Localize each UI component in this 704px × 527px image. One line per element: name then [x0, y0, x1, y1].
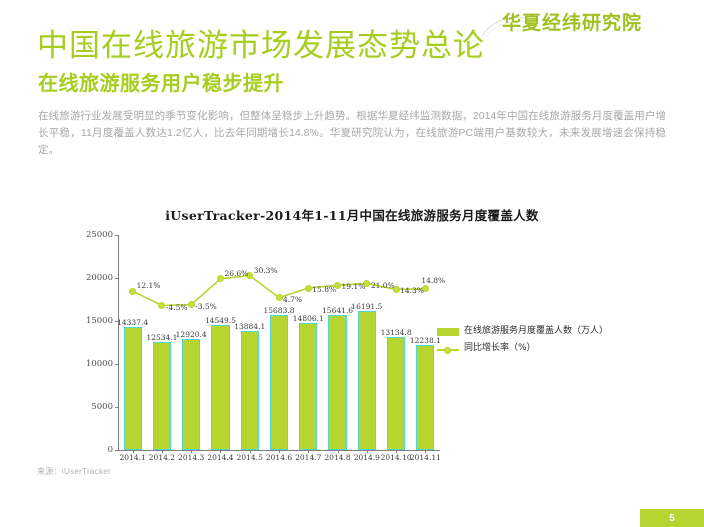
x-tick-label: 2014.7 — [295, 453, 321, 462]
bar-slot[interactable] — [124, 235, 142, 450]
chart-plot-area: 0500010000150002000025000 12.1%-4.5%-3.5… — [118, 235, 440, 450]
bar-value-label: 14549.5 — [205, 316, 236, 325]
bar[interactable] — [416, 345, 434, 450]
bar-value-label: 13884.1 — [234, 322, 265, 331]
bar[interactable] — [182, 339, 200, 450]
bar-value-label: 16191.5 — [351, 302, 382, 311]
x-tick-mark — [133, 450, 134, 453]
x-tick-mark — [425, 450, 426, 453]
y-tick-label: 10000 — [86, 359, 113, 369]
line-marker[interactable] — [276, 294, 283, 301]
bar[interactable] — [328, 315, 346, 450]
bar-value-label: 15641.6 — [322, 306, 353, 315]
x-tick-label: 2014.1 — [120, 453, 146, 462]
x-tick-mark — [367, 450, 368, 453]
bar-value-label: 12920.4 — [176, 330, 207, 339]
line-marker[interactable] — [305, 285, 312, 292]
y-tick-label: 15000 — [86, 316, 113, 326]
growth-value-label: 30.3% — [254, 266, 278, 275]
chart-legend: 在线旅游服务月度覆盖人数（万人） 同比增长率（%） — [437, 325, 617, 359]
x-tick-mark — [191, 450, 192, 453]
x-tick-label: 2014.6 — [266, 453, 292, 462]
body-paragraph: 在线旅游行业发展受明显的季节变化影响，但整体呈稳步上升趋势。根据华夏经纬监测数据… — [38, 108, 666, 159]
growth-value-label: 4.7% — [283, 295, 302, 304]
bar[interactable] — [358, 311, 376, 450]
x-tick-mark — [396, 450, 397, 453]
bar-slot[interactable] — [153, 235, 171, 450]
legend-label-line: 同比增长率（%） — [464, 342, 536, 354]
legend-item-line: 同比增长率（%） — [437, 342, 617, 354]
y-tick-label: 25000 — [86, 230, 113, 240]
bar-slot[interactable] — [387, 235, 405, 450]
bar[interactable] — [211, 325, 229, 450]
brand-name: 华夏经纬研究院 — [502, 8, 642, 35]
bar-value-label: 13134.8 — [381, 328, 412, 337]
page-number: 5 — [640, 509, 704, 527]
growth-value-label: 26.6% — [224, 269, 248, 278]
x-tick-mark — [162, 450, 163, 453]
growth-value-label: 14.3% — [400, 286, 424, 295]
bar[interactable] — [241, 331, 259, 450]
growth-value-label: 15.8% — [312, 285, 336, 294]
growth-value-label: -4.5% — [166, 303, 188, 312]
bar-slot[interactable] — [211, 235, 229, 450]
y-tick-label: 20000 — [86, 273, 113, 283]
chart-title: iUserTracker-2014年1-11月中国在线旅游服务月度覆盖人数 — [0, 205, 704, 224]
growth-value-label: 12.1% — [137, 281, 161, 290]
x-tick-label: 2014.10 — [381, 453, 412, 462]
y-tick-label: 5000 — [91, 402, 113, 412]
x-tick-label: 2014.3 — [178, 453, 204, 462]
x-tick-label: 2014.8 — [324, 453, 350, 462]
growth-value-label: 21.0% — [371, 281, 395, 290]
source-note: 来源：iUserTracker — [37, 466, 111, 477]
x-tick-label: 2014.9 — [354, 453, 380, 462]
bar-slot[interactable] — [299, 235, 317, 450]
legend-item-bars: 在线旅游服务月度覆盖人数（万人） — [437, 325, 617, 337]
y-tick-label: 0 — [108, 445, 113, 455]
bar-slot[interactable] — [358, 235, 376, 450]
footer-bar: 5 — [0, 509, 704, 527]
bar-value-label: 14337.4 — [117, 318, 148, 327]
bar-value-label: 15683.8 — [263, 306, 294, 315]
x-tick-mark — [220, 450, 221, 453]
bar-slot[interactable] — [328, 235, 346, 450]
bar[interactable] — [153, 342, 171, 450]
x-tick-label: 2014.2 — [149, 453, 175, 462]
x-tick-label: 2014.5 — [237, 453, 263, 462]
line-marker[interactable] — [188, 301, 195, 308]
x-tick-mark — [308, 450, 309, 453]
legend-bar-swatch-icon — [437, 328, 459, 336]
bar-value-label: 14806.1 — [293, 314, 324, 323]
growth-value-label: -3.5% — [195, 302, 217, 311]
x-tick-label: 2014.11 — [410, 453, 441, 462]
bar-slot[interactable] — [182, 235, 200, 450]
bar[interactable] — [124, 327, 142, 450]
growth-value-label: 14.8% — [421, 276, 445, 285]
legend-line-swatch-icon — [437, 345, 459, 354]
page-title: 中国在线旅游市场发展态势总论 — [37, 20, 485, 65]
x-tick-mark — [338, 450, 339, 453]
y-tick-mark — [115, 450, 118, 451]
x-tick-mark — [279, 450, 280, 453]
legend-label-bars: 在线旅游服务月度覆盖人数（万人） — [464, 325, 604, 337]
bar-value-label: 12534.1 — [146, 333, 177, 342]
line-marker[interactable] — [129, 288, 136, 295]
growth-value-label: 19.1% — [342, 282, 366, 291]
x-tick-label: 2014.4 — [207, 453, 233, 462]
x-tick-mark — [250, 450, 251, 453]
page-subtitle: 在线旅游服务用户稳步提升 — [38, 67, 284, 96]
bar-series — [118, 235, 440, 450]
bar[interactable] — [299, 323, 317, 450]
bar[interactable] — [270, 315, 288, 450]
slide: 华夏经纬研究院 中国在线旅游市场发展态势总论 在线旅游服务用户稳步提升 在线旅游… — [0, 0, 704, 527]
bar[interactable] — [387, 337, 405, 450]
